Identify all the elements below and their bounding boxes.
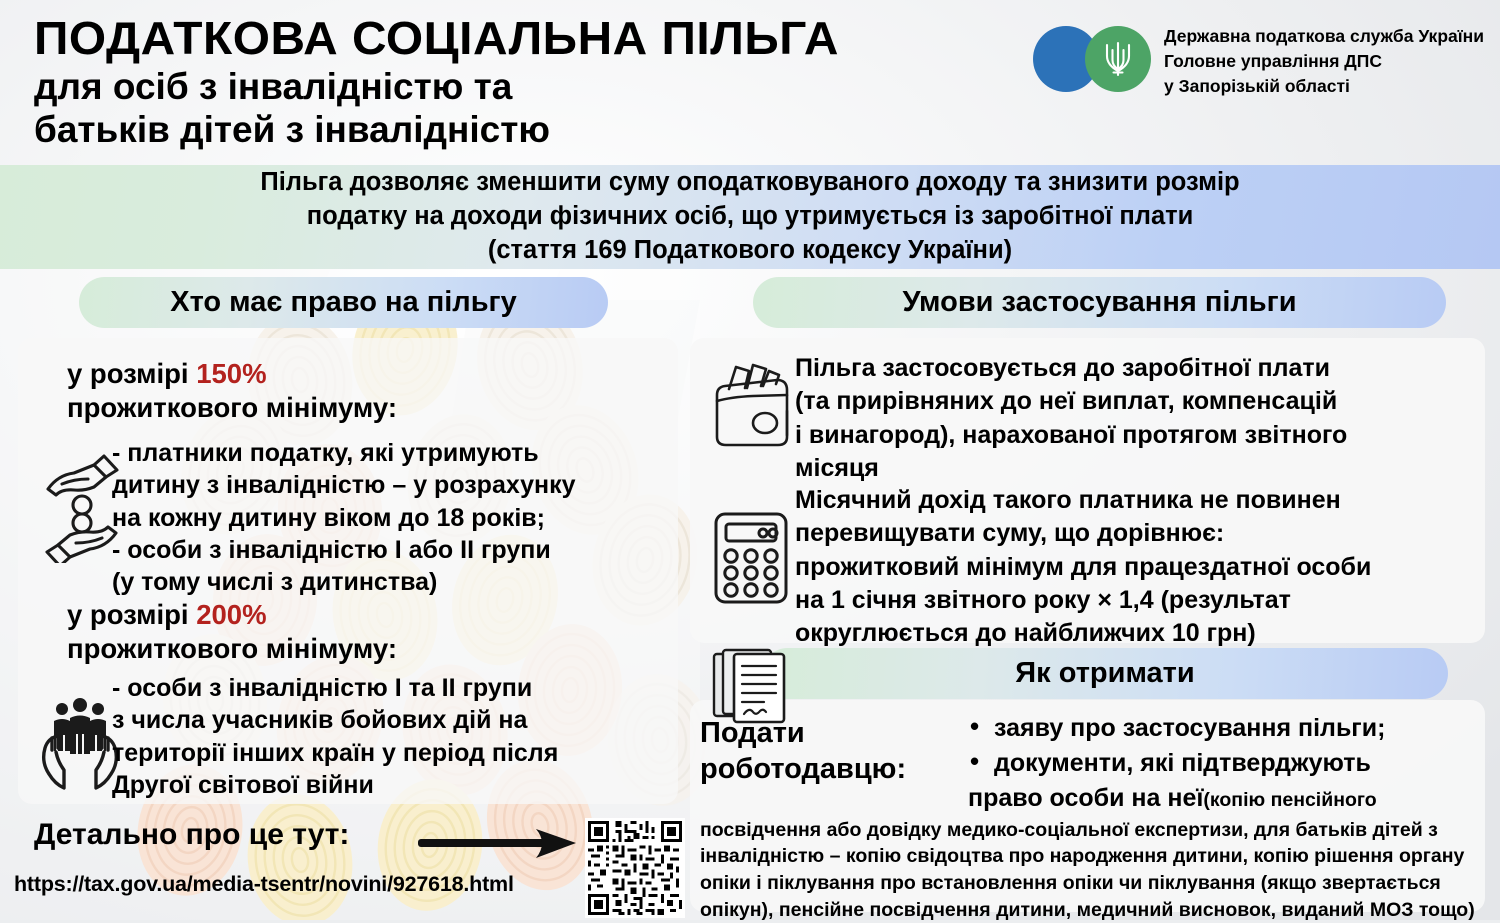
logo-agency-name: Державна податкова служба України <box>1164 23 1484 49</box>
benefit-200-line-1: - особи з інвалідністю I та II групи <box>112 672 652 704</box>
benefit-150-line-5: (у тому числі з дитинства) <box>112 566 672 598</box>
benefit-200-line-2: з числа учасників бойових дій на <box>112 704 652 736</box>
condition-income-line-5: округлюється до найближчих 10 грн) <box>795 617 1483 650</box>
intro-banner-line-2: податку на доходи фізичних осіб, що утри… <box>307 200 1194 234</box>
condition-salary-line-1: Пільга застосовується до заробітної плат… <box>795 352 1475 385</box>
benefit-200-prefix: у розмірі <box>67 599 196 630</box>
tryzub-icon <box>1103 39 1133 79</box>
page-title: ПОДАТКОВА СОЦІАЛЬНА ПІЛЬГА <box>34 14 1012 62</box>
calculator-icon <box>709 508 793 608</box>
page-subtitle-line-1: для осіб з інвалідністю та <box>34 66 974 109</box>
section-header-howto-label: Як отримати <box>1015 657 1194 690</box>
howto-item-2-text: документи, які підтверджують <box>994 749 1371 777</box>
wallet-icon <box>703 355 803 455</box>
intro-banner-line-1: Пільга дозволяє зменшити суму оподаткову… <box>260 166 1239 200</box>
condition-income-line-3: прожитковий мінімум для працездатної осо… <box>795 551 1483 584</box>
intro-banner-line-3: (стаття 169 Податкового кодексу України) <box>488 234 1012 268</box>
howto-paren-start: (копію пенсійного <box>1203 789 1376 811</box>
page-header: ПОДАТКОВА СОЦІАЛЬНА ПІЛЬГА для осіб з ін… <box>0 0 1500 165</box>
logo-text: Державна податкова служба України Головн… <box>1164 22 1484 99</box>
benefit-200-line-3: території інших країн у період після <box>112 737 652 769</box>
condition-income-line-4: на 1 січня звітного року × 1,4 (результа… <box>795 584 1483 617</box>
section-header-conditions: Умови застосування пільги <box>753 277 1446 328</box>
condition-salary-line-3: і винагород), нарахованої протягом звітн… <box>795 419 1475 452</box>
benefit-150-prefix: у розмірі <box>67 358 196 389</box>
benefit-200-body: - особи з інвалідністю I та II групи з ч… <box>112 672 652 801</box>
section-header-conditions-label: Умови застосування пільги <box>902 286 1296 319</box>
benefit-200-line-4: Другої світової війни <box>112 769 652 801</box>
benefit-150-line-2: дитину з інвалідністю – у розрахунку <box>112 469 672 501</box>
intro-banner: Пільга дозволяє зменшити суму оподаткову… <box>0 165 1500 269</box>
howto-submit-label-line-1: Подати <box>700 715 906 751</box>
section-header-eligibility-label: Хто має право на пільгу <box>170 286 517 319</box>
howto-item-2-continuation: право особи на неї <box>968 784 1203 812</box>
page-subtitle: для осіб з інвалідністю та батьків дітей… <box>34 66 974 151</box>
benefit-200-suffix: прожиткового мінімуму: <box>67 633 397 664</box>
detail-url[interactable]: https://tax.gov.ua/media-tsentr/novini/9… <box>14 872 514 897</box>
section-header-howto: Як отримати <box>762 648 1448 699</box>
logo-circles <box>1033 26 1151 92</box>
howto-items-list: заяву про застосування пільги; документи… <box>968 712 1483 781</box>
benefit-150-percent: 150% <box>196 358 266 389</box>
agency-logo: Державна податкова служба України Головн… <box>1033 22 1484 99</box>
howto-fine-print: право особи на неї(копію пенсійного посв… <box>700 786 1490 923</box>
benefit-150-heading: у розмірі 150% прожиткового мінімуму: <box>67 357 657 424</box>
green-circle-icon <box>1085 26 1151 92</box>
condition-salary-text: Пільга застосовується до заробітної плат… <box>795 352 1475 485</box>
howto-item-1-text: заяву про застосування пільги; <box>994 714 1385 742</box>
howto-submit-label: Подати роботодавцю: <box>700 715 906 788</box>
benefit-150-line-3: на кожну дитину віком до 18 років; <box>112 502 672 534</box>
benefit-150-suffix: прожиткового мінімуму: <box>67 392 397 423</box>
title-block: ПОДАТКОВА СОЦІАЛЬНА ПІЛЬГА для осіб з ін… <box>34 14 974 151</box>
condition-income-line-2: перевищувати суму, що дорівнює: <box>795 517 1483 550</box>
arrow-right-icon <box>418 827 578 861</box>
page-subtitle-line-2: батьків дітей з інвалідністю <box>34 109 974 152</box>
benefit-150-body: - платники податку, які утримують дитину… <box>112 437 672 598</box>
condition-income-line-1: Місячний дохід такого платника не повине… <box>795 484 1483 517</box>
howto-list-item: заяву про застосування пільги; <box>968 712 1483 745</box>
condition-income-text: Місячний дохід такого платника не повине… <box>795 484 1483 650</box>
benefit-200-percent: 200% <box>196 599 266 630</box>
benefit-150-line-4: - особи з інвалідністю I або II групи <box>112 534 672 566</box>
qr-code-icon[interactable] <box>585 818 685 918</box>
condition-salary-line-2: (та прирівняних до неї виплат, компенсац… <box>795 385 1475 418</box>
howto-list-item: документи, які підтверджують <box>968 747 1483 780</box>
benefit-200-heading: у розмірі 200% прожиткового мінімуму: <box>67 598 657 665</box>
condition-salary-line-4: місяця <box>795 452 1475 485</box>
detail-label: Детально про це тут: <box>34 818 349 852</box>
benefit-150-line-1: - платники податку, які утримують <box>112 437 672 469</box>
howto-fine-print-text: посвідчення або довідку медико-соціально… <box>700 817 1490 923</box>
logo-department-line-1: Головне управління ДПС <box>1164 49 1484 74</box>
section-header-eligibility: Хто має право на пільгу <box>79 277 608 328</box>
logo-department-line-2: у Запорізькій області <box>1164 74 1484 99</box>
